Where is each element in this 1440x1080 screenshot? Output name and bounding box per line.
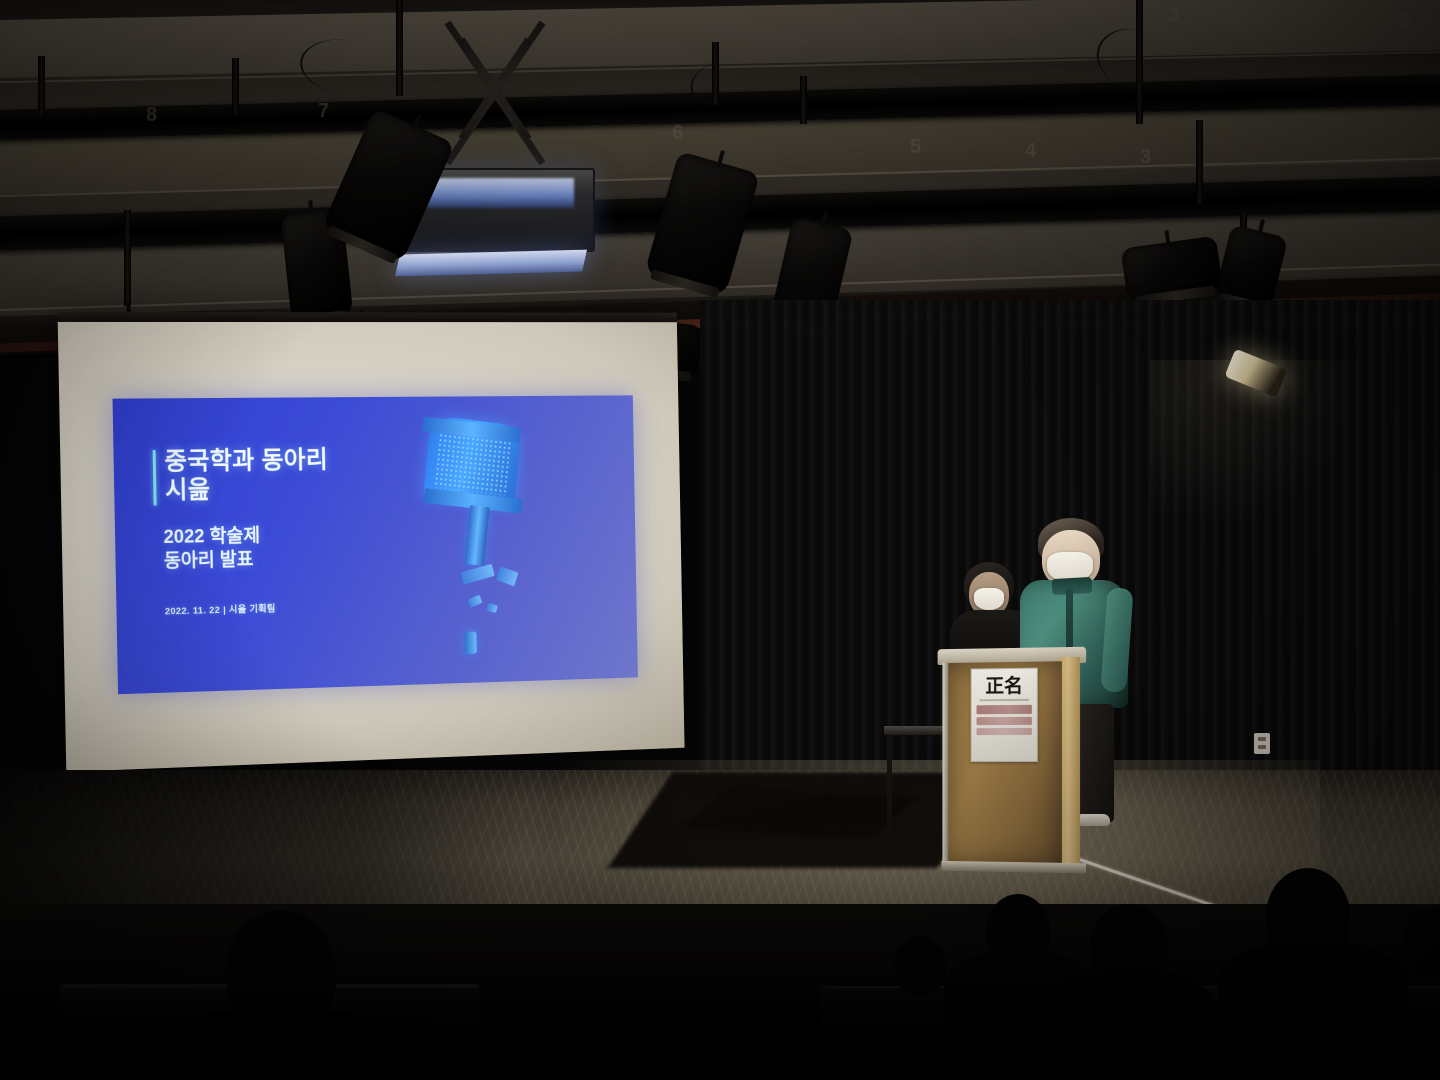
slide-title: 중국학과 동아리 시읊: [164, 446, 329, 506]
truss-number: 7: [318, 100, 329, 123]
projector-lamp-glow: [426, 178, 575, 208]
rigging-pipe: [1196, 120, 1203, 204]
truss-number: 5: [910, 136, 921, 159]
podium-edge-trim: [942, 663, 948, 865]
rigging-pipe: [800, 76, 807, 124]
podium-sign-rule: [979, 699, 1029, 701]
podium-sign-band: [977, 728, 1032, 735]
podium-sign: 正名: [971, 668, 1038, 762]
shoe: [1078, 814, 1110, 826]
podium-sign-text: 正名: [985, 676, 1023, 697]
rigging-pipe: [124, 210, 131, 306]
slide-subtitle: 2022 학술제 동아리 발표: [163, 524, 260, 575]
truss-number: 3: [1168, 4, 1179, 27]
wall-outlet: [1254, 733, 1270, 754]
slide-title-block: 중국학과 동아리 시읊: [153, 446, 329, 506]
presentation-slide: 중국학과 동아리 시읊 2022 학술제 동아리 발표 2022. 11. 22…: [113, 395, 638, 694]
truss-number: 2: [1400, 10, 1411, 33]
truss-number: 8: [146, 104, 157, 127]
podium-side-panel: [1060, 657, 1080, 867]
stage-light-fixture: [1121, 236, 1224, 305]
audience-area: [0, 846, 1440, 1080]
podium-sign-band: [977, 705, 1032, 714]
slide-meta-line: 2022. 11. 22 | 시읊 기획팀: [165, 601, 276, 618]
truss-number: 3: [1140, 146, 1151, 169]
truss-number: 4: [1025, 140, 1036, 163]
rigging-pipe: [38, 56, 45, 116]
projection-screen: 중국학과 동아리 시읊 2022 학술제 동아리 발표 2022. 11. 22…: [58, 322, 685, 772]
microphone-icon: [400, 409, 568, 658]
truss-number: 6: [672, 122, 683, 145]
title-accent-bar: [153, 450, 157, 506]
rigging-pipe: [396, 0, 403, 96]
audience-foreground: [0, 988, 1440, 1080]
face-mask: [974, 588, 1004, 610]
auditorium-scene: 8 7 6 5 4 3 3 2: [0, 0, 1440, 1080]
audience-head: [894, 936, 946, 994]
podium-sign-band: [977, 717, 1032, 725]
podium: 正名: [945, 647, 1078, 867]
screen-surface: 중국학과 동아리 시읊 2022 학술제 동아리 발표 2022. 11. 22…: [58, 322, 685, 772]
rigging-pipe: [232, 58, 239, 114]
